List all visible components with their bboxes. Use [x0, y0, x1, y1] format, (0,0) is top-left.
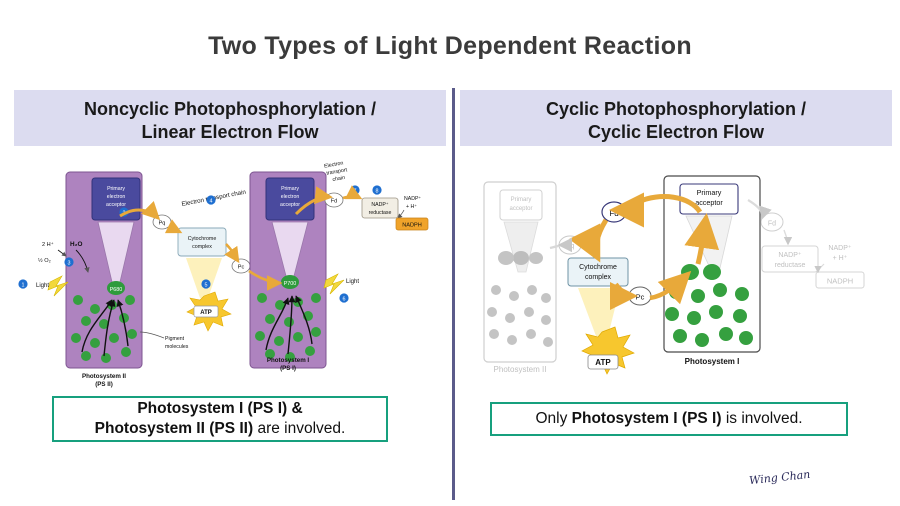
right-h-plus-label: + H⁺	[833, 255, 848, 262]
right-ps2-label: Photosystem II	[494, 365, 547, 374]
svg-text:electron: electron	[107, 194, 126, 200]
left-pigment-l1: Pigment	[165, 336, 185, 342]
left-step-3: 3	[68, 260, 71, 266]
left-ps2-l2: (PS II)	[95, 381, 113, 388]
svg-text:electron: electron	[281, 194, 300, 200]
left-p700-label: P700	[284, 281, 297, 287]
left-nadp-reductase-l1: NADP⁺	[371, 202, 388, 208]
left-callout-bold-2: Photosystem II (PS II)	[95, 420, 253, 437]
left-nadp-plus-label: NADP⁺	[404, 196, 421, 202]
slide-root: Two Types of Light Dependent Reaction No…	[0, 0, 900, 506]
left-pq-label: Pq	[159, 221, 166, 227]
left-ps1-l2: (PS I)	[280, 365, 296, 372]
left-p680-label: P680	[110, 287, 123, 293]
right-nadph-label: NADPH	[827, 277, 853, 286]
right-primary-acceptor-ps1-l2: acceptor	[695, 198, 723, 207]
left-h-plus-label: + H⁺	[406, 204, 417, 210]
right-callout-pre: Only	[535, 410, 571, 427]
right-pq-label: Pq	[566, 243, 575, 250]
left-nadph-label: NADPH	[402, 223, 422, 229]
left-step-6: 6	[343, 296, 346, 302]
right-nadp-plus-label: NADP⁺	[828, 245, 851, 252]
left-etc2-l3: chain	[332, 175, 346, 183]
left-cytochrome-l1: Cytochrome	[188, 236, 217, 242]
left-callout-rest-1: &	[287, 400, 303, 417]
left-primary-acceptor-ps1-l1: Primary	[281, 186, 299, 192]
left-step-7: 7	[354, 188, 357, 194]
right-atp-badge: ATP	[582, 327, 634, 374]
right-fd-faded-label: Fd	[768, 221, 776, 228]
left-light1-label: Light	[36, 283, 49, 289]
left-light2-label: Light	[346, 279, 359, 285]
left-half-o2-label: ½ O₂	[38, 257, 51, 264]
left-step-8: 8	[376, 188, 379, 194]
right-nadp-reductase-l1: NADP⁺	[778, 252, 801, 259]
left-pc-label: Pc	[238, 265, 245, 271]
right-atp-label: ATP	[595, 358, 611, 367]
svg-text:acceptor: acceptor	[280, 202, 300, 208]
left-callout-bold-1: Photosystem I (PS I)	[137, 400, 287, 417]
left-ps1-l1: Photosystem I	[267, 357, 310, 364]
right-primary-acceptor-ps2-l2: acceptor	[509, 206, 532, 212]
right-primary-acceptor-ps2-l1: Primary	[511, 197, 532, 203]
right-nadp-reductase-l2: reductase	[775, 262, 806, 269]
left-step-4: 4	[210, 198, 213, 204]
svg-text:complex: complex	[192, 244, 212, 250]
right-ps1-label: Photosystem I	[685, 357, 740, 366]
right-pc-label: Pc	[636, 293, 645, 302]
svg-text:acceptor: acceptor	[106, 202, 126, 208]
left-diagram: Primary electron acceptor P680 Light	[18, 160, 428, 388]
left-atp-badge: ATP	[187, 292, 231, 331]
right-primary-acceptor-ps1-l1: Primary	[697, 188, 722, 197]
right-callout: Only Photosystem I (PS I) is involved.	[490, 402, 848, 436]
right-callout-bold: Photosystem I (PS I)	[572, 410, 722, 427]
left-step-5: 5	[205, 282, 208, 288]
left-atp-label: ATP	[200, 310, 212, 316]
left-h2o-label: H₂O	[70, 241, 82, 248]
left-nadp-reductase-l2: reductase	[369, 210, 392, 216]
right-diagram: Primary acceptor Photosystem II Pq Cytoc…	[484, 176, 864, 374]
left-step-1: 1	[22, 282, 25, 288]
left-primary-acceptor-ps2-l1: Primary	[107, 186, 125, 192]
left-2h-label: 2 H⁺	[42, 241, 54, 248]
left-callout-rest-2: are involved.	[253, 420, 345, 437]
left-ps2-l1: Photosystem II	[82, 373, 126, 380]
right-cytochrome-l1: Cytochrome	[579, 264, 617, 271]
right-cytochrome-l2: complex	[585, 274, 612, 281]
left-callout: Photosystem I (PS I) & Photosystem II (P…	[52, 396, 388, 442]
left-pigment-l2: molecules	[165, 344, 189, 350]
left-fd-label: Fd	[331, 199, 338, 205]
right-callout-post: is involved.	[722, 410, 803, 427]
